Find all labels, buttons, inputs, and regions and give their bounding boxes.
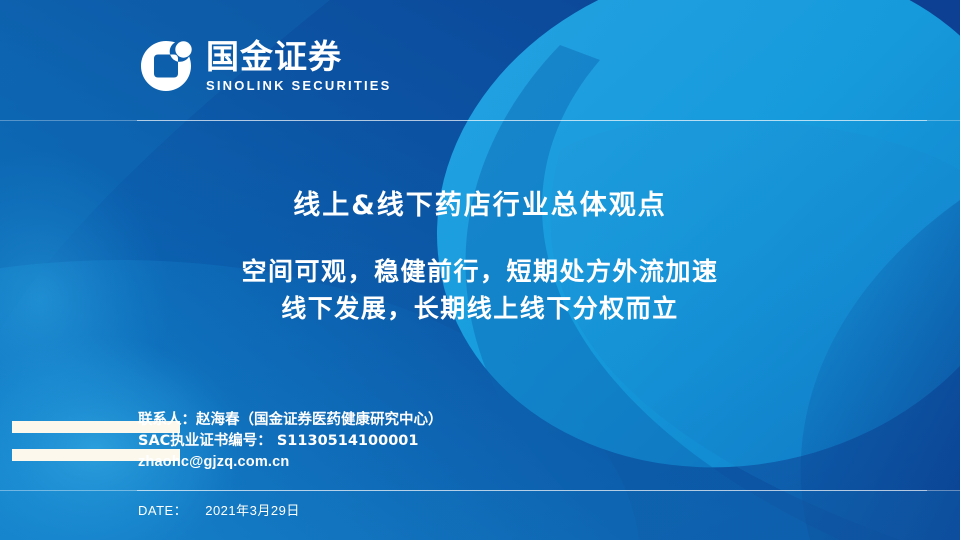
sinolink-circle-mark-icon xyxy=(138,38,194,94)
page-title: 线上&线下药店行业总体观点 xyxy=(0,183,960,222)
logo-name-en: SINOLINK SECURITIES xyxy=(206,78,392,93)
contact-block: 联系人：赵海春（国金证券医药健康研究中心） SAC执业证书编号： S113051… xyxy=(138,410,738,473)
analyst-name: 联系人：赵海春（国金证券医药健康研究中心） xyxy=(138,410,738,431)
sac-license-number: SAC执业证书编号： S1130514100001 xyxy=(138,431,738,452)
page-subtitle-line-1: 空间可观，稳健前行，短期处方外流加速 xyxy=(0,252,960,288)
page-subtitle-line-2: 线下发展，长期线上线下分权而立 xyxy=(0,289,960,325)
logo-name-cn: 国金证券 xyxy=(206,40,392,75)
date-value: 2021年3月29日 xyxy=(205,503,300,518)
contact-email[interactable]: zhaohc@gjzq.com.cn xyxy=(138,452,738,473)
slide-date: DATE：2021年3月29日 xyxy=(138,500,300,519)
logo-wordmark: 国金证券 SINOLINK SECURITIES xyxy=(206,38,392,93)
footer-divider xyxy=(137,490,927,491)
header-divider xyxy=(137,120,927,121)
title-slide: 国金证券 SINOLINK SECURITIES 线上&线下药店行业总体观点 空… xyxy=(0,0,960,540)
date-label: DATE： xyxy=(138,503,187,518)
company-logo: 国金证券 SINOLINK SECURITIES xyxy=(138,38,392,94)
